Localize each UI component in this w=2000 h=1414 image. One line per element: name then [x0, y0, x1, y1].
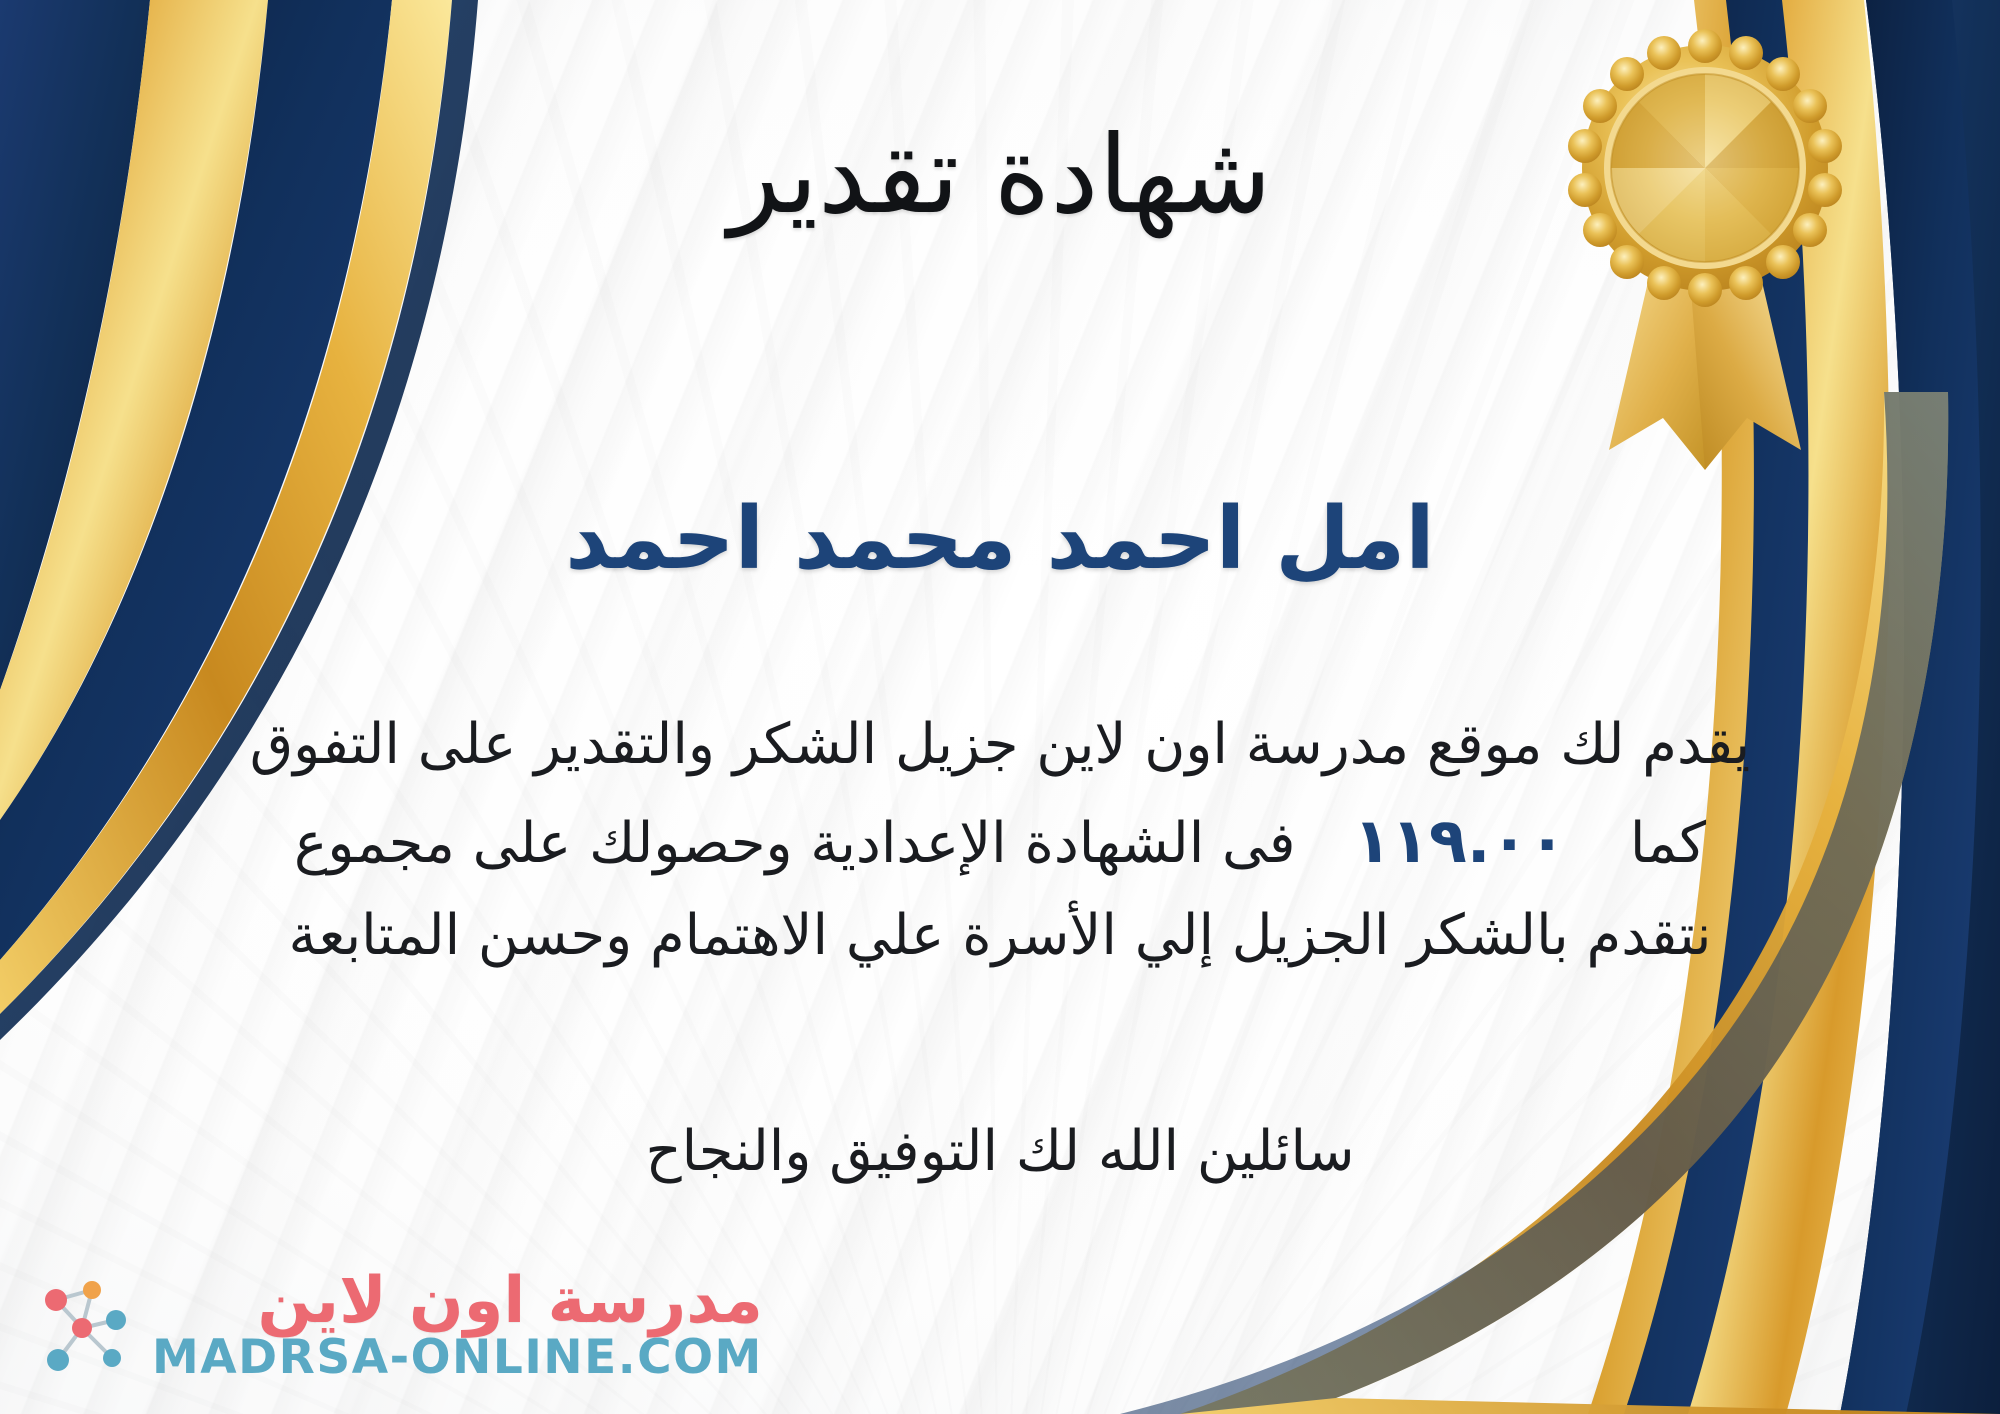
page-title: شهادة تقدير: [0, 118, 2000, 235]
certificate-body: يقدم لك موقع مدرسة اون لاين جزيل الشكر و…: [60, 700, 1940, 982]
recipient-name: امل احمد محمد احمد: [0, 492, 2000, 587]
certificate-content: شهادة تقدير امل احمد محمد احمد يقدم لك م…: [0, 0, 2000, 1414]
brand-name-arabic: مدرسة اون لاين: [257, 1269, 762, 1333]
body-line-1: يقدم لك موقع مدرسة اون لاين جزيل الشكر و…: [60, 700, 1940, 791]
grade-value: ١١٩.٠٠: [1313, 791, 1612, 891]
brand-logo[interactable]: مدرسة اون لاين MADRSA-ONLINE.COM: [28, 1269, 763, 1384]
brand-logo-text: مدرسة اون لاين MADRSA-ONLINE.COM: [152, 1269, 763, 1384]
network-nodes-icon: [28, 1272, 138, 1382]
body-line-2-suffix: كما: [1630, 811, 1706, 876]
certificate-canvas: شهادة تقدير امل احمد محمد احمد يقدم لك م…: [0, 0, 2000, 1414]
body-line-3: نتقدم بالشكر الجزيل إلي الأسرة علي الاهت…: [60, 891, 1940, 982]
body-line-2: كما ١١٩.٠٠ فى الشهادة الإعدادية وحصولك ع…: [60, 791, 1940, 891]
brand-website-url: MADRSA-ONLINE.COM: [152, 1333, 763, 1384]
body-line-2-prefix: فى الشهادة الإعدادية وحصولك على مجموع: [294, 811, 1296, 876]
closing-line: سائلين الله لك التوفيق والنجاح: [0, 1110, 2000, 1194]
